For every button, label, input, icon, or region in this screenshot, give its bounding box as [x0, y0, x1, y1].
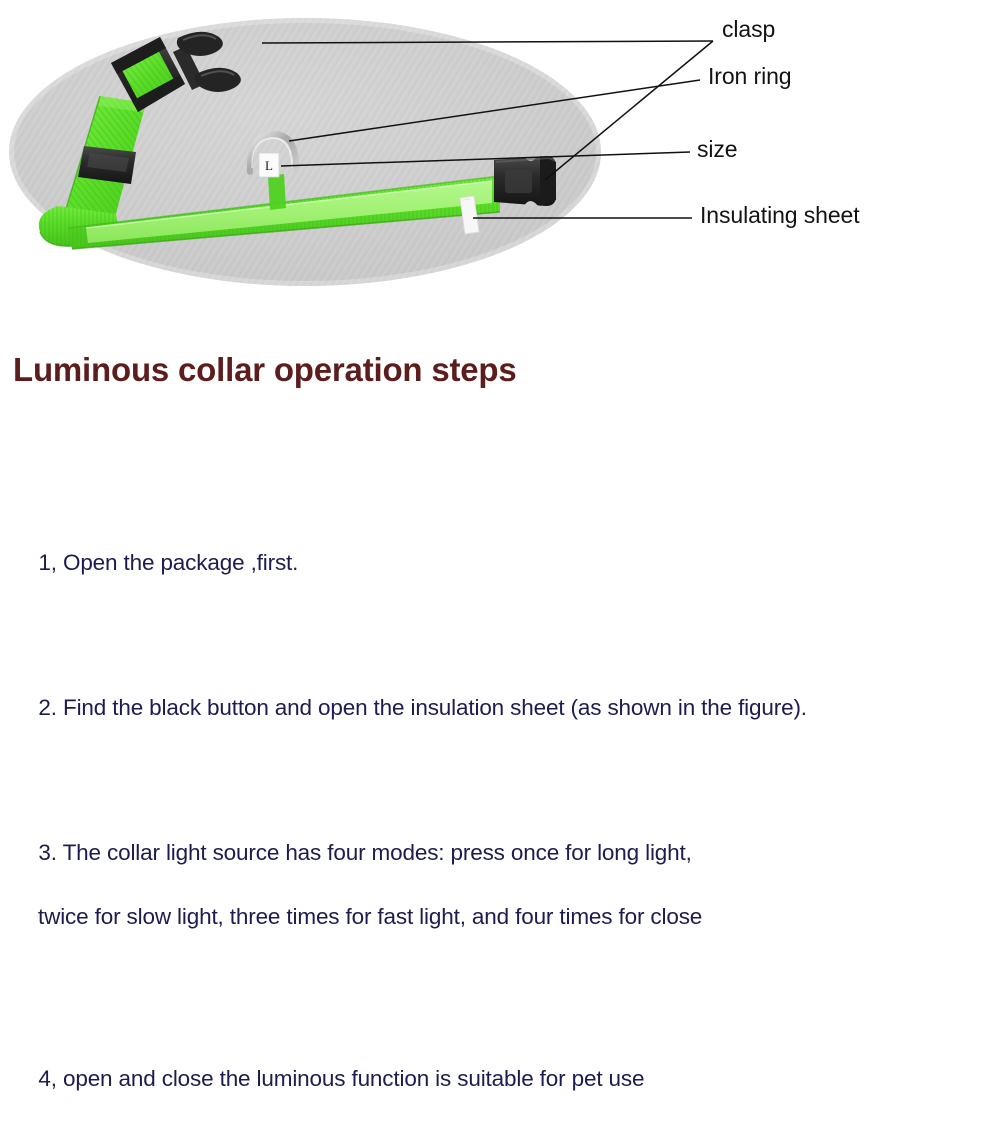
size-tag: L: [259, 153, 279, 177]
callout-label-size: size: [697, 138, 738, 161]
step-text-4: 4, open and close the luminous function …: [38, 1066, 644, 1091]
callout-label-insulating-sheet: Insulating sheet: [700, 204, 860, 227]
buckle-face-panel: [505, 170, 532, 193]
step-item-2: 2. Find the black button and open the in…: [14, 665, 974, 751]
step-text-1: 1, Open the package ,first.: [38, 550, 298, 575]
step-text-2: 2. Find the black button and open the in…: [38, 695, 807, 720]
step-item-4: 4, open and close the luminous function …: [14, 1037, 974, 1123]
operation-steps-list: 1, Open the package ,first. 2. Find the …: [14, 520, 974, 1123]
size-tag-letter: L: [265, 158, 273, 173]
step-item-1: 1, Open the package ,first.: [14, 520, 974, 606]
clasp-buckle-female: [494, 156, 556, 206]
step-text-3-continuation: twice for slow light, three times for fa…: [14, 903, 974, 932]
callout-label-clasp: clasp: [722, 18, 775, 41]
page-title: Luminous collar operation steps: [13, 352, 517, 388]
callout-label-iron-ring: Iron ring: [708, 65, 791, 88]
product-photo-diagram: L clasp Iron ring size Insulating sheet: [0, 0, 1000, 300]
step-text-3: 3. The collar light source has four mode…: [38, 840, 691, 865]
webbing-keeper-loop: [268, 174, 286, 210]
collar-illustration: L: [0, 0, 1000, 300]
step-item-3: 3. The collar light source has four mode…: [14, 810, 974, 990]
